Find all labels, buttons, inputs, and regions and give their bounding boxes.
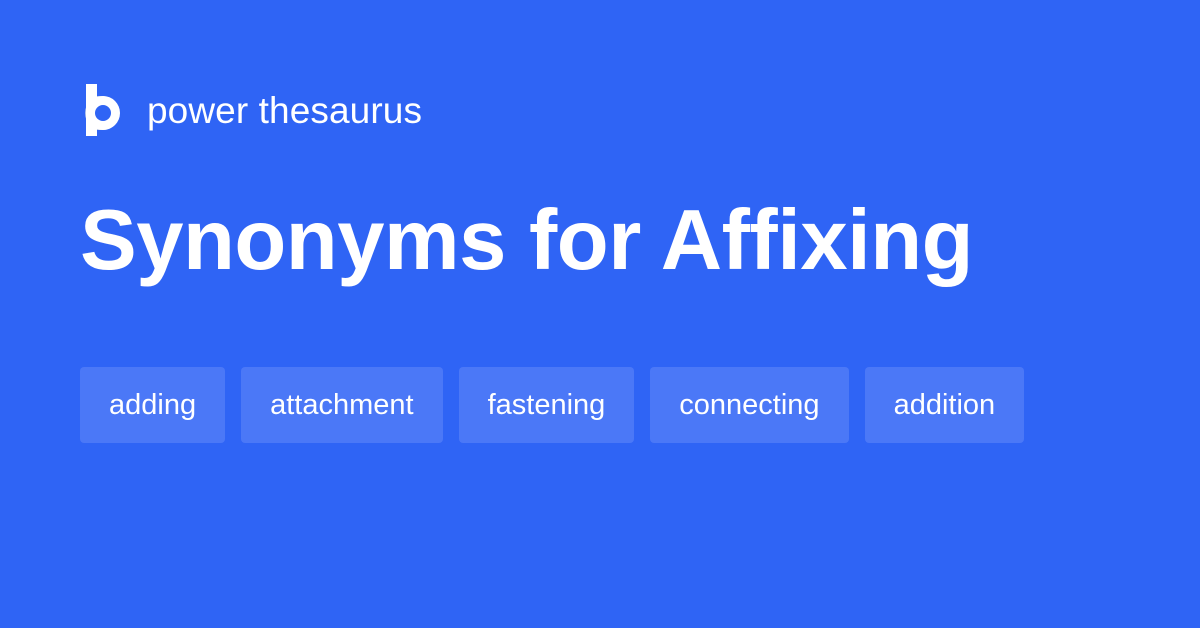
synonym-tag[interactable]: connecting <box>650 367 848 443</box>
synonym-tag[interactable]: fastening <box>459 367 635 443</box>
brand-logo[interactable]: power thesaurus <box>80 82 422 138</box>
synonym-tag[interactable]: attachment <box>241 367 442 443</box>
synonym-tag[interactable]: addition <box>865 367 1025 443</box>
page-title: Synonyms for Affixing <box>80 196 973 286</box>
synonym-tag[interactable]: adding <box>80 367 225 443</box>
power-thesaurus-b-logo-icon <box>80 84 126 136</box>
synonym-tag-list: adding attachment fastening connecting a… <box>80 367 1080 443</box>
share-card: power thesaurus Synonyms for Affixing ad… <box>0 0 1200 628</box>
brand-name: power thesaurus <box>147 92 422 129</box>
